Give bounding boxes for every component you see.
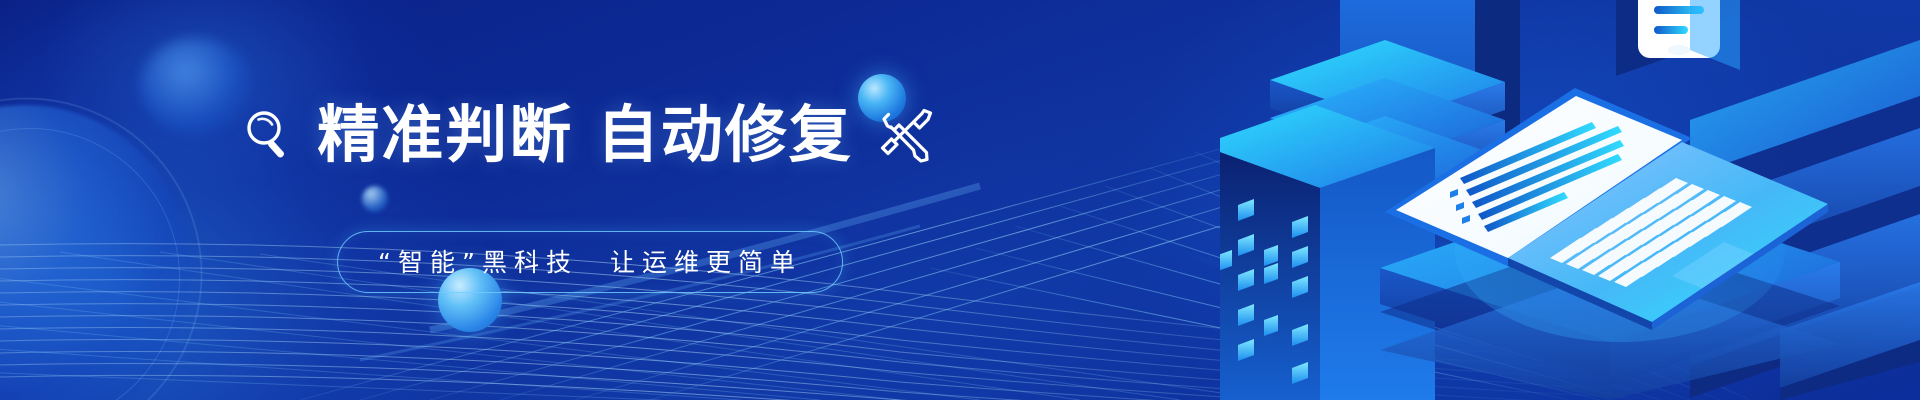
search-magnifier-icon — [243, 106, 295, 164]
isometric-illustration — [1220, 0, 1920, 400]
floating-phone-card — [1616, 0, 1740, 76]
page-subtitle: “智能”黑科技 让运维更简单 — [378, 248, 802, 277]
wrench-screwdriver-icon — [875, 104, 937, 166]
tower-building-with-windows — [1220, 105, 1435, 400]
subtitle-pill: “智能”黑科技 让运维更简单 — [337, 231, 843, 293]
headline-block: 精准判断 自动修复 “智能”黑科技 让运维更简单 — [0, 0, 1180, 400]
page-headline: 精准判断 自动修复 — [317, 104, 853, 166]
hero-banner: 精准判断 自动修复 “智能”黑科技 让运维更简单 — [0, 0, 1920, 400]
headline-row: 精准判断 自动修复 — [0, 104, 1180, 166]
